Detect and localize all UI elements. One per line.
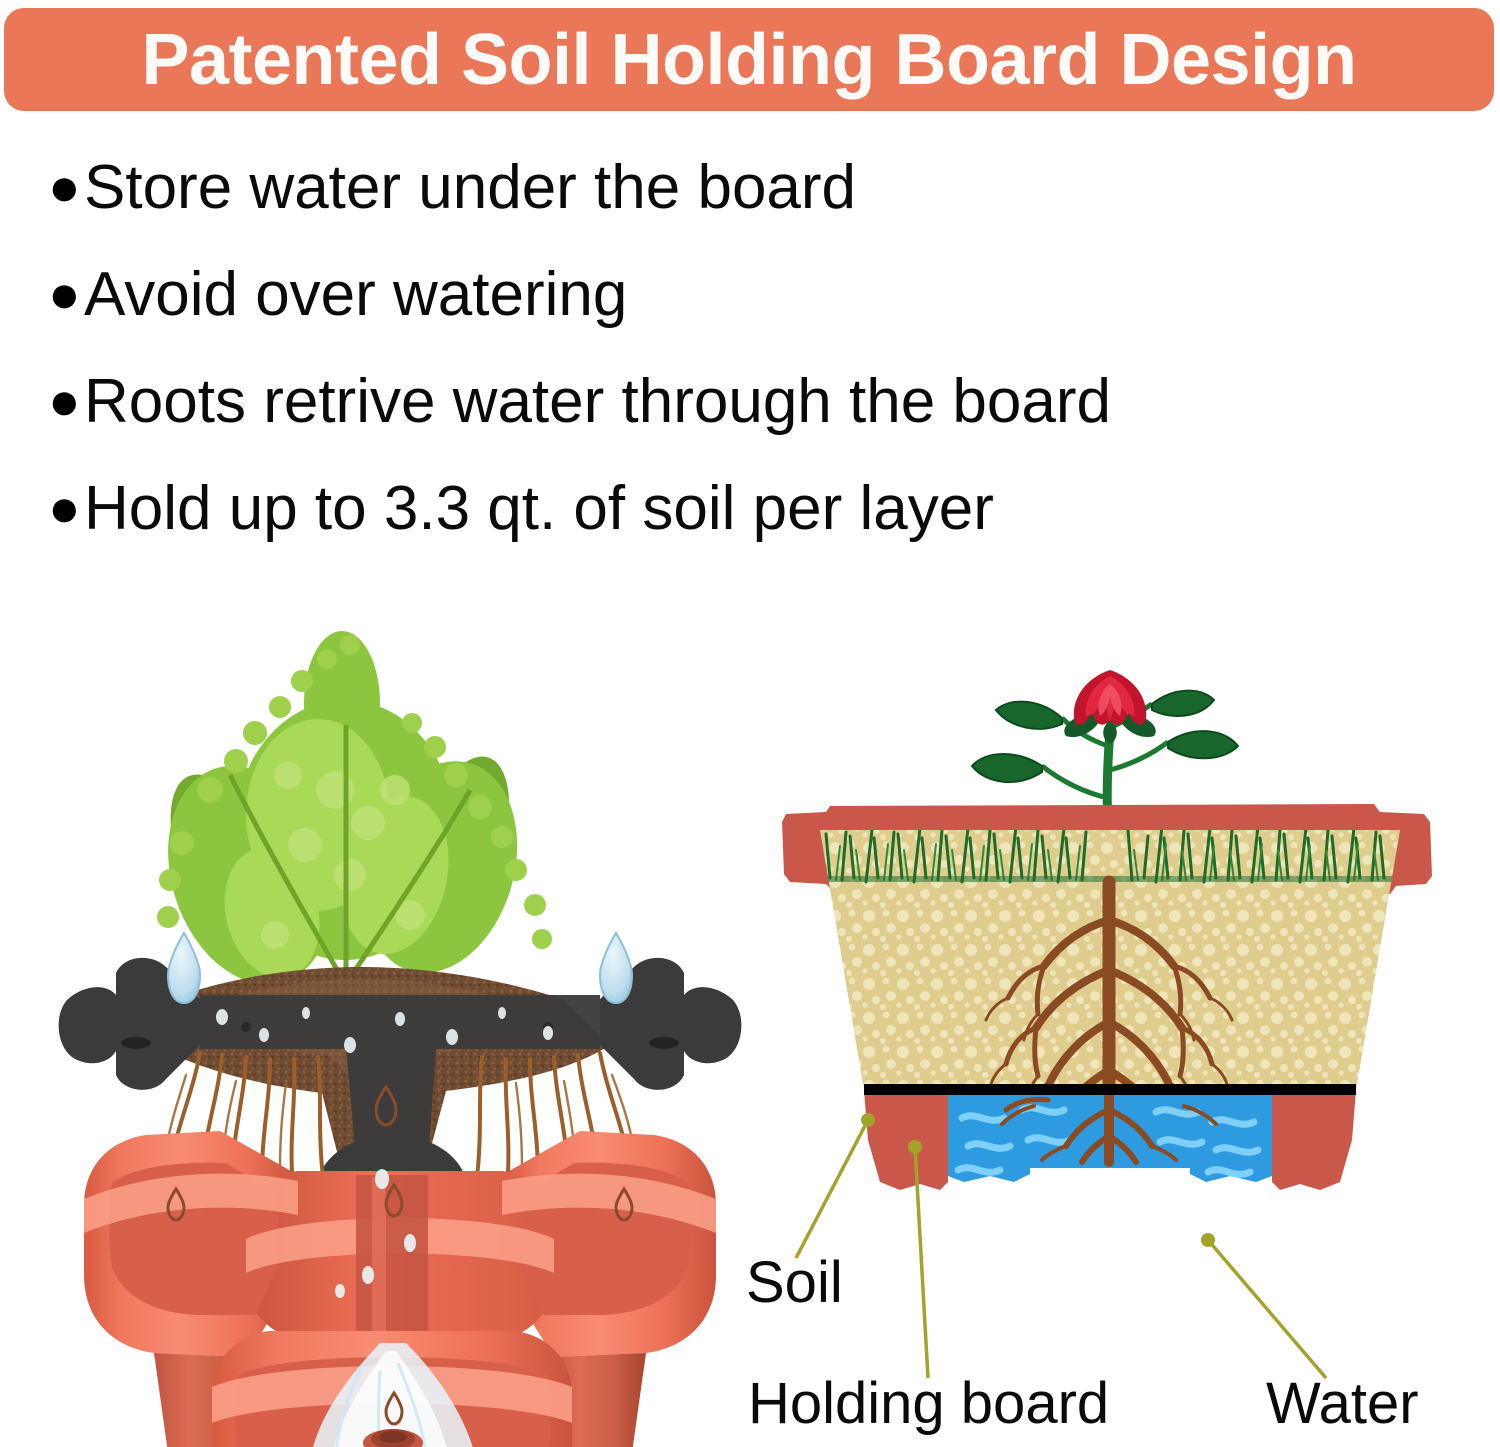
list-item: ● Roots retrive water through the board bbox=[48, 366, 1468, 473]
feature-list: ● Store water under the board ● Avoid ov… bbox=[48, 152, 1468, 580]
feature-text: Avoid over watering bbox=[84, 259, 627, 331]
callout-label-soil: Soil bbox=[746, 1252, 843, 1314]
water-droplet-icon bbox=[168, 933, 200, 1003]
illustration-panels bbox=[0, 575, 1500, 1447]
list-item: ● Hold up to 3.3 qt. of soil per layer bbox=[48, 473, 1468, 580]
bullet-dot-icon: ● bbox=[48, 152, 84, 222]
bullet-dot-icon: ● bbox=[48, 366, 84, 436]
bullet-dot-icon: ● bbox=[48, 473, 84, 543]
product-photo-panel bbox=[50, 575, 750, 1447]
plant-foliage-icon bbox=[141, 631, 552, 1006]
feature-text: Roots retrive water through the board bbox=[84, 366, 1111, 438]
cross-section-panel bbox=[760, 670, 1460, 1370]
header-banner: Patented Soil Holding Board Design bbox=[4, 8, 1494, 111]
rose-plant-icon bbox=[972, 670, 1238, 826]
water-droplet-icon bbox=[600, 933, 632, 1003]
callout-label-water: Water bbox=[1266, 1373, 1419, 1435]
bullet-dot-icon: ● bbox=[48, 259, 84, 329]
feature-text: Hold up to 3.3 qt. of soil per layer bbox=[84, 473, 994, 545]
stackable-planter-illustration bbox=[50, 575, 750, 1447]
feature-text: Store water under the board bbox=[84, 152, 856, 224]
callout-label-holding-board: Holding board bbox=[748, 1373, 1109, 1435]
list-item: ● Avoid over watering bbox=[48, 259, 1468, 366]
planter-cross-section-illustration bbox=[760, 670, 1460, 1290]
list-item: ● Store water under the board bbox=[48, 152, 1468, 259]
page-title: Patented Soil Holding Board Design bbox=[4, 24, 1494, 96]
holding-board-line bbox=[864, 1084, 1356, 1095]
